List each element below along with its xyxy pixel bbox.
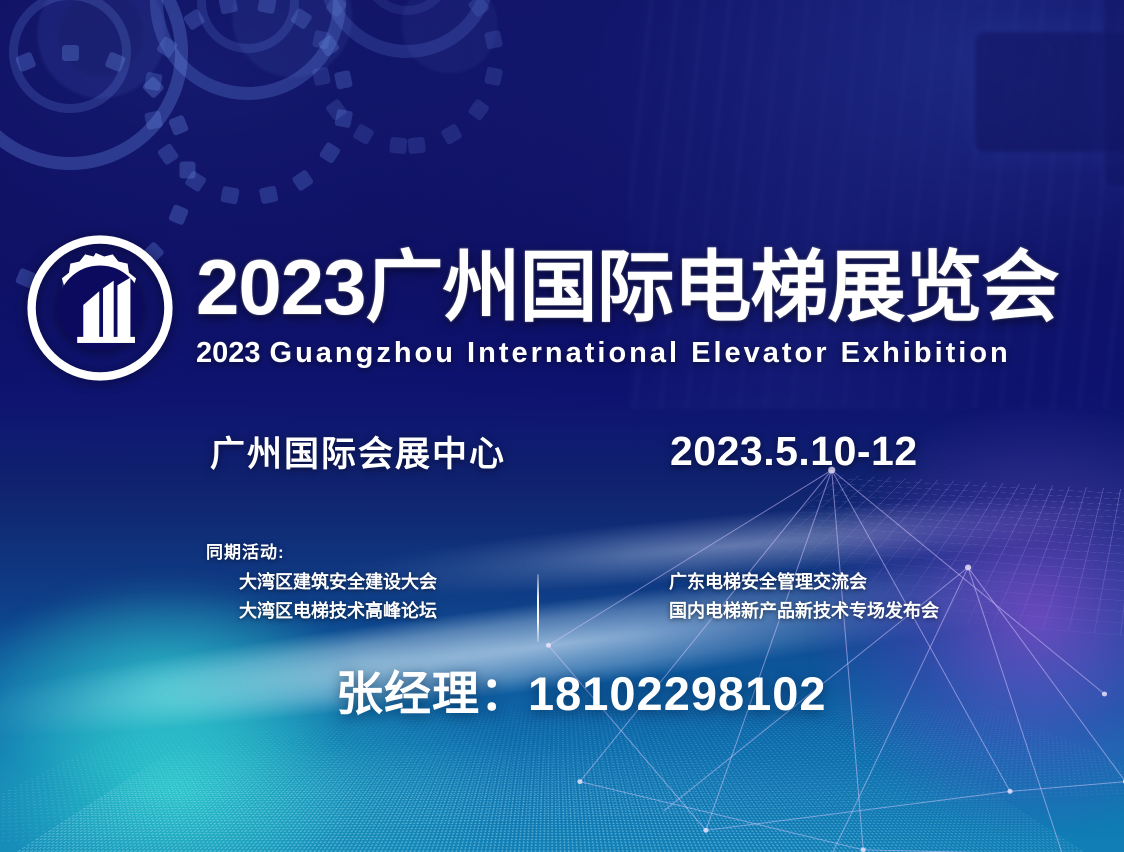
event-dates: 2023.5.10-12 [670,428,918,475]
event-item: 国内电梯新产品新技术专场发布会 [669,601,969,622]
poster-content: 2023广州国际电梯展览会 2023Guangzhou Internationa… [0,0,1124,852]
events-divider [537,574,539,642]
event-item: 大湾区建筑安全建设大会 [239,572,529,593]
logo-row [24,232,176,384]
title-block: 2023广州国际电梯展览会 2023Guangzhou Internationa… [196,248,1059,368]
event-item: 大湾区电梯技术高峰论坛 [239,601,529,622]
concurrent-events-section: 同期活动: 大湾区建筑安全建设大会 大湾区电梯技术高峰论坛 广东电梯安全管理交流… [206,538,969,642]
venue-name: 广州国际会展中心 [210,426,506,477]
venue-date-row: 广州国际会展中心 2023.5.10-12 [210,426,990,477]
events-column-left: 大湾区建筑安全建设大会 大湾区电梯技术高峰论坛 [239,572,529,621]
title-english: 2023Guangzhou International Elevator Exh… [196,339,1059,368]
elevator-exhibition-poster: 2023广州国际电梯展览会 2023Guangzhou Internationa… [0,0,1124,852]
event-item: 广东电梯安全管理交流会 [669,572,969,593]
gear-building-emblem-icon [24,232,176,384]
title-english-text: Guangzhou International Elevator Exhibit… [270,337,1011,369]
concurrent-events-label: 同期活动: [206,538,969,563]
concurrent-events-columns: 大湾区建筑安全建设大会 大湾区电梯技术高峰论坛 广东电梯安全管理交流会 国内电梯… [206,572,969,642]
events-column-right: 广东电梯安全管理交流会 国内电梯新产品新技术专场发布会 [669,572,969,621]
title-english-year: 2023 [196,337,261,369]
title-chinese: 2023广州国际电梯展览会 [196,248,1059,326]
contact-info: 张经理：18102298102 [336,655,827,724]
